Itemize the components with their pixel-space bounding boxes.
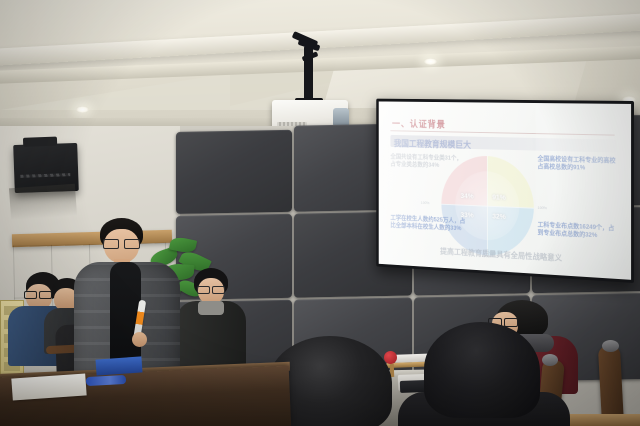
slide-title: 一、认证背景 <box>392 116 446 130</box>
pie-value-top-left: 34% <box>460 191 473 200</box>
hand <box>132 332 147 347</box>
speaker-grill-icon <box>20 173 70 178</box>
callout-top-right: 全国高校设有工科专业的高校占高校总数的91% <box>538 155 621 174</box>
projection-screen: 一、认证背景 我国工程教育规模巨大 34% 91% 33% 32% 100% 1… <box>376 99 634 283</box>
callout-bottom-right: 工科专业布点数16249个，占到专业布点总数的32% <box>538 221 621 242</box>
speaker-shadow <box>9 184 77 221</box>
slide-footer: 提高工程教育质量具有全局性战略意义 <box>440 246 562 264</box>
axis-tick-left: 100% <box>421 200 430 205</box>
glasses-icon <box>103 239 140 247</box>
downlight-icon <box>424 58 437 65</box>
seated-attendee-center <box>176 268 246 378</box>
conference-room-photo: 一、认证背景 我国工程教育规模巨大 34% 91% 33% 32% 100% 1… <box>0 0 640 426</box>
pie-value-top-right: 91% <box>492 193 505 202</box>
microphone-windscreen-icon <box>384 351 397 364</box>
foreground-attendee-center <box>424 322 540 418</box>
callout-top-left: 全国共设有工科专业类31个，占专业类总数的34% <box>390 153 465 171</box>
slide-subtitle: 我国工程教育规模巨大 <box>394 137 471 151</box>
wooden-chair <box>592 336 640 426</box>
pie-value-bottom-right: 32% <box>492 212 505 221</box>
speaker-bracket <box>23 137 57 147</box>
floor-strip <box>558 414 640 426</box>
presentation-slide: 一、认证背景 我国工程教育规模巨大 34% 91% 33% 32% 100% 1… <box>379 101 631 279</box>
blue-folder <box>95 356 142 375</box>
glasses-icon <box>197 286 225 292</box>
downlight-icon <box>76 106 89 113</box>
scarf <box>198 301 224 315</box>
callout-bottom-left: 工学在校生人数约525万人，占比全部本科在校生人数的33% <box>390 215 465 234</box>
axis-tick-right: 100% <box>538 205 547 210</box>
